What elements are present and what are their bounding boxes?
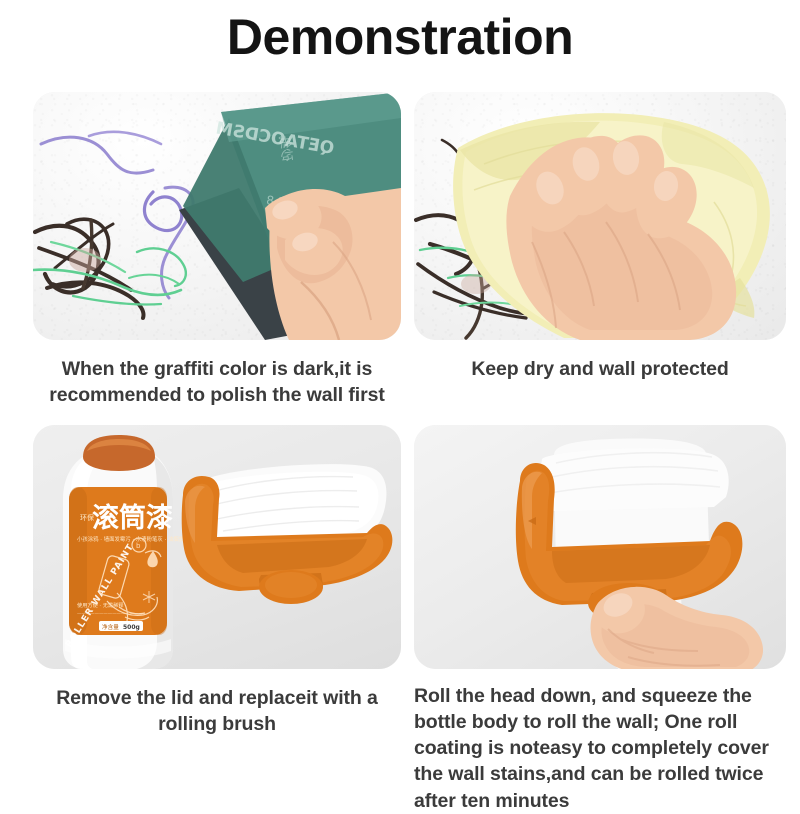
demonstration-grid: QETAOCDSM SM 8 砂纸 [0, 92, 800, 765]
roller-sleeve [541, 448, 729, 511]
bottle-and-roller: 环保 滚筒漆 小孩涂鸦 · 墙面发霉污 · 水渍粉笔灰 · 油烟熏渍痕 ROLL… [33, 425, 401, 669]
roller-brush-head [182, 464, 393, 604]
panel-replace-lid-caption: Remove the lid and replaceit with a roll… [33, 685, 401, 737]
label-footer-small: ——————————————— [77, 612, 143, 617]
svg-text:b: b [136, 542, 141, 550]
bottle-label: 环保 滚筒漆 小孩涂鸦 · 墙面发霉污 · 水渍粉笔灰 · 油烟熏渍痕 ROLL… [64, 487, 195, 649]
panel-replace-lid-photo: 环保 滚筒漆 小孩涂鸦 · 墙面发霉污 · 水渍粉笔灰 · 油烟熏渍痕 ROLL… [33, 425, 401, 669]
panel-row-bottom: 环保 滚筒漆 小孩涂鸦 · 墙面发霉污 · 水渍粉笔灰 · 油烟熏渍痕 ROLL… [0, 425, 800, 765]
label-weight: 500g [123, 624, 140, 631]
panel-row-top: QETAOCDSM SM 8 砂纸 [0, 92, 800, 350]
label-net-content: 净含量 [102, 623, 119, 631]
panel-keep-dry-photo [414, 92, 786, 340]
sanding-block-and-hand: QETAOCDSM SM 8 砂纸 [33, 92, 401, 340]
label-title: 滚筒漆 [92, 502, 173, 534]
panel-roll-wall-caption: Roll the head down, and squeeze the bott… [414, 683, 782, 814]
roller-on-wall-with-hand [414, 425, 786, 669]
panel-keep-dry: Keep dry and wall protected [414, 92, 786, 382]
label-footer: 使用方便 · 无需稀释 [77, 601, 124, 609]
panel-polish-wall: QETAOCDSM SM 8 砂纸 [33, 92, 401, 408]
panel-roll-wall: Roll the head down, and squeeze the bott… [414, 425, 786, 814]
panel-roll-wall-photo [414, 425, 786, 669]
panel-replace-lid: 环保 滚筒漆 小孩涂鸦 · 墙面发霉污 · 水渍粉笔灰 · 油烟熏渍痕 ROLL… [33, 425, 401, 737]
panel-polish-wall-photo: QETAOCDSM SM 8 砂纸 [33, 92, 401, 340]
cloth-and-hand [414, 92, 786, 340]
panel-polish-wall-caption: When the graffiti color is dark,it is re… [33, 356, 401, 408]
hand [265, 188, 401, 340]
panel-keep-dry-caption: Keep dry and wall protected [414, 356, 786, 382]
page-title: Demonstration [0, 8, 800, 66]
paint-bottle: 环保 滚筒漆 小孩涂鸦 · 墙面发霉污 · 水渍粉笔灰 · 油烟熏渍痕 ROLL… [63, 435, 195, 669]
